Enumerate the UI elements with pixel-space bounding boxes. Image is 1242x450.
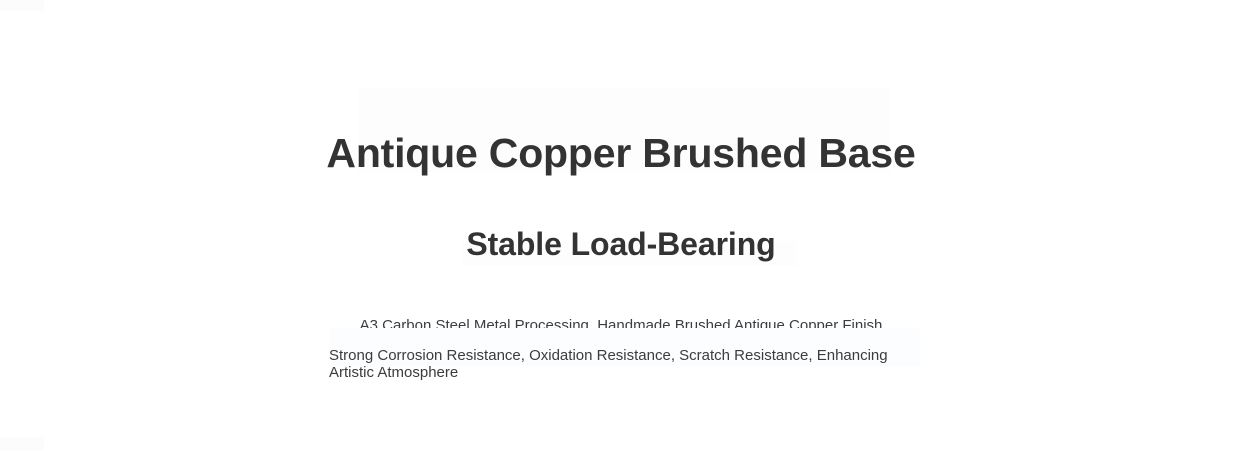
page-title: Antique Copper Brushed Base xyxy=(0,123,1242,183)
product-promo-banner: Antique Copper Brushed Base Stable Load-… xyxy=(0,0,1242,450)
page-subtitle: Stable Load-Bearing xyxy=(0,220,1242,268)
render-artifact-top-left xyxy=(0,0,44,11)
render-artifact-bottom-left xyxy=(0,437,44,450)
benefit-description: Strong Corrosion Resistance, Oxidation R… xyxy=(329,347,889,381)
